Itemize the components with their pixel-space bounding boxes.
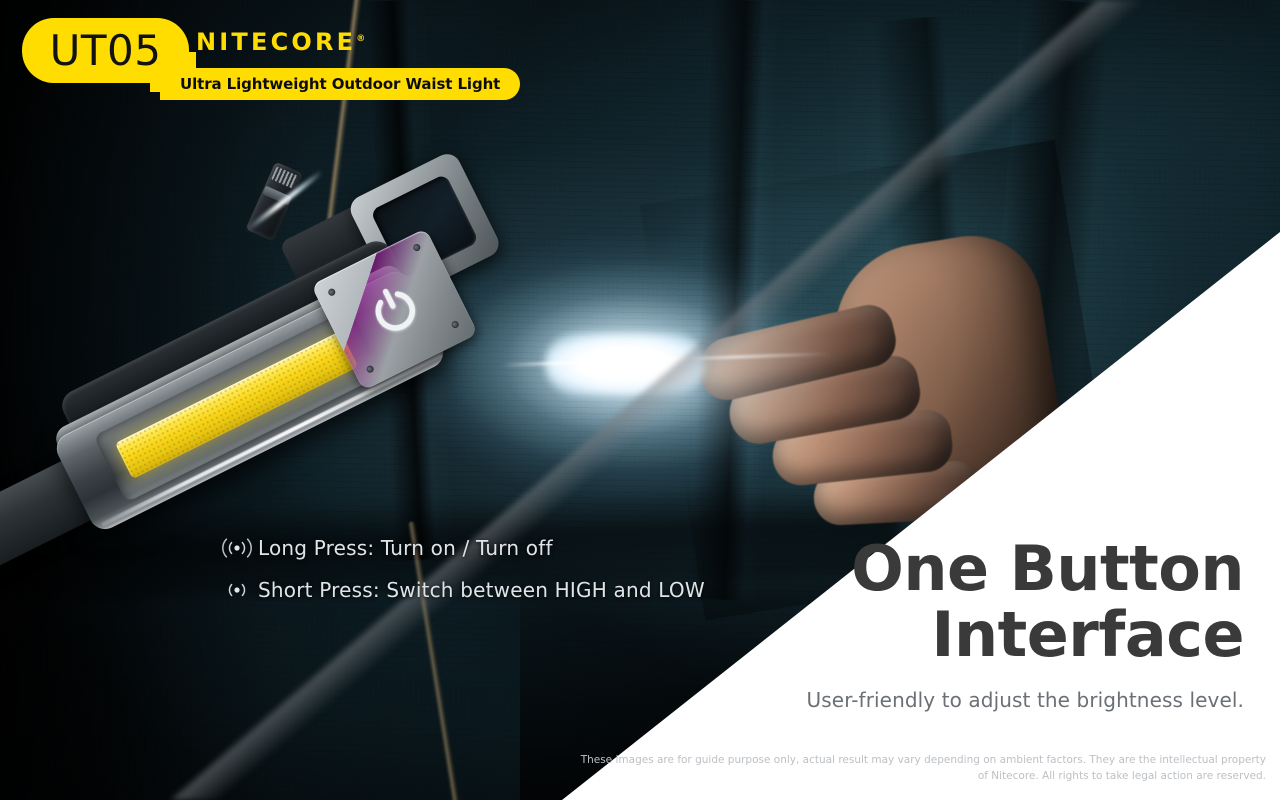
promo-banner: UT05 NITECORE® Ultra Lightweight Outdoor… — [0, 0, 1280, 800]
tagline-label: Ultra Lightweight Outdoor Waist Light — [180, 75, 500, 93]
feature-label: Long Press: Turn on / Turn off — [258, 536, 553, 560]
legal-disclaimer: These images are for guide purpose only,… — [576, 752, 1266, 785]
headline-line-1: One Button — [544, 536, 1244, 602]
tagline-badge: Ultra Lightweight Outdoor Waist Light — [160, 68, 520, 100]
brand-logo-text: NITECORE — [196, 28, 356, 56]
headline-subtitle: User-friendly to adjust the brightness l… — [544, 688, 1244, 712]
registered-trademark-icon: ® — [356, 34, 365, 44]
model-badge-label: UT05 — [50, 30, 162, 72]
long-press-signal-icon — [216, 537, 258, 559]
headline-line-2: Interface — [544, 602, 1244, 668]
short-press-signal-icon — [216, 579, 258, 601]
brand-logo: NITECORE® — [196, 30, 365, 54]
headline-block: One Button Interface — [544, 536, 1244, 667]
